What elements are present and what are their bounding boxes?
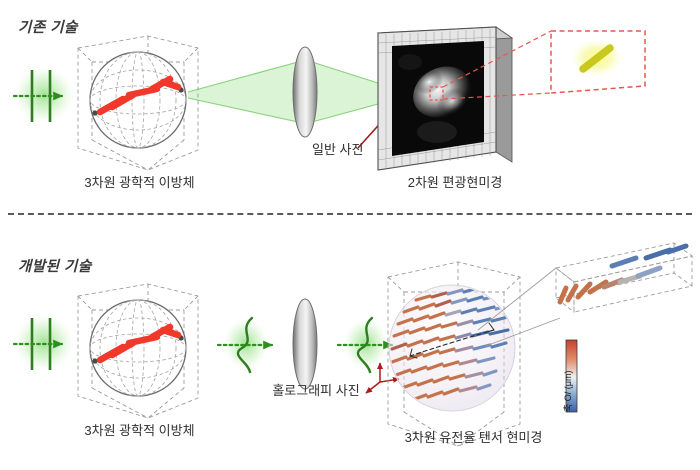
caption-detector-top: 2차원 편광현미경: [385, 172, 525, 191]
sample-sphere-top: [90, 52, 186, 148]
panel-title-existing: 기존 기술: [18, 16, 78, 37]
sample-box-frame-top: [78, 36, 198, 170]
lens-icon-bottom: [293, 299, 317, 389]
sample-box-frame-bottom: [78, 284, 198, 418]
light-beam-top: [188, 62, 400, 122]
camera-sensor-icon: [378, 27, 512, 170]
caption-sample-bottom: 3차원 광학적 이방체: [62, 420, 217, 439]
anisotropy-markers-top: [100, 79, 178, 112]
section-divider: [8, 213, 692, 215]
figure-root: 기존 기술 개발된 기술: [0, 0, 700, 470]
label-normal-photo: 일반 사진: [312, 139, 363, 158]
polarizer-icon-top: [14, 67, 74, 123]
diagram-canvas: [0, 0, 700, 470]
caption-result-bottom: 3차원 유전율 텐서 현미경: [386, 427, 561, 446]
colorbar-label: 축 O/ (μm): [561, 371, 574, 412]
zoom-inset-top: [430, 31, 645, 100]
tensor-box-frame: [388, 262, 520, 446]
tensor-zoom-box: [556, 243, 692, 312]
distorted-wavefront-left: [218, 318, 272, 372]
panel-title-developed: 개발된 기술: [18, 255, 92, 276]
anisotropy-markers-bottom: [100, 327, 178, 360]
lens-icon-top: [293, 47, 317, 137]
polarizer-icon-bottom: [14, 315, 74, 371]
caption-sample-top: 3차원 광학적 이방체: [62, 172, 217, 191]
sample-sphere-bottom: [90, 300, 186, 396]
tensor-zoom-leaders: [478, 268, 560, 346]
label-hologram-photo: 홀로그래피 사진: [256, 380, 376, 399]
tensor-sphere-icon: [389, 285, 515, 411]
distorted-wavefront-right: [338, 318, 392, 372]
